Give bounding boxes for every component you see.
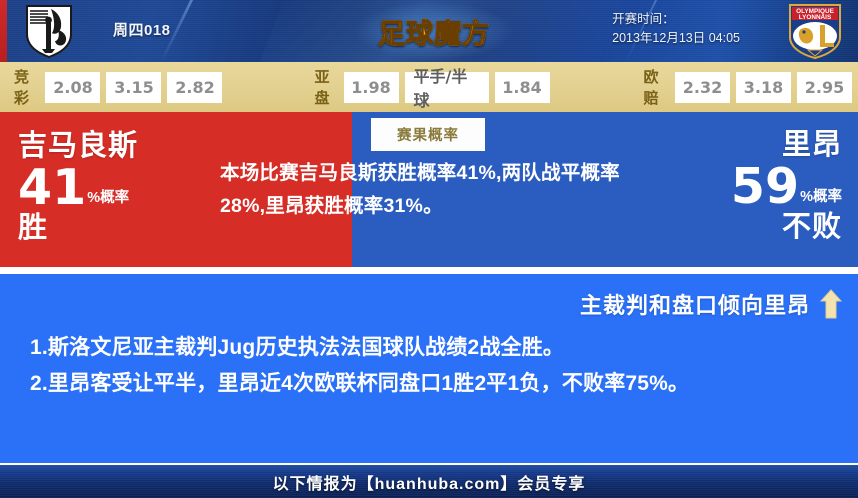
odds-label-european: 欧赔 [644,66,667,108]
odds-cell-european-draw[interactable]: 3.18 [736,72,791,103]
odds-cell-jingcai-home[interactable]: 2.08 [45,72,100,103]
brand-logo: 足球魔方 [358,4,510,58]
insight-line-1: 1.斯洛文尼亚主裁判Jug历史执法法国球队战绩2战全胜。 [30,330,832,366]
odds-cell-asian-away[interactable]: 1.84 [495,72,550,103]
away-probability-value: 59 [731,162,799,211]
olympique-lyonnais-crest: OLYMPIQUE LYONNAIS [786,3,844,59]
footer-bar: 以下情报为【huanhuba.com】会员专享 [0,463,858,498]
odds-group-asian: 亚盘 1.98 平手/半球 1.84 [314,66,555,108]
probability-band: 赛果概率 吉马良斯 41 %概率 胜 里昂 59 %概率 不败 本场比赛吉马良斯… [0,112,858,267]
odds-group-jingcai: 竞彩 2.08 3.15 2.82 [14,66,228,108]
kickoff-label: 开赛时间： [612,10,740,29]
odds-label-jingcai: 竞彩 [14,66,37,108]
kickoff-value: 2013年12月13日 04:05 [612,29,740,48]
match-round-label: 周四018 [113,19,171,40]
home-team-probability: 吉马良斯 41 %概率 胜 [18,130,138,244]
home-outcome-label: 胜 [18,212,138,244]
odds-label-asian: 亚盘 [314,66,335,108]
probability-summary-text: 本场比赛吉马良斯获胜概率41%,两队战平概率28%,里昂获胜概率31%。 [220,157,620,223]
insight-list: 1.斯洛文尼亚主裁判Jug历史执法法国球队战绩2战全胜。 2.里昂客受让平半，里… [30,330,832,402]
odds-group-european: 欧赔 2.32 3.18 2.95 [644,66,858,108]
away-probability-suffix: %概率 [800,190,842,212]
insight-line-2: 2.里昂客受让平半，里昂近4次欧联杯同盘口1胜2平1负，不败率75%。 [30,366,832,402]
header-bar: 周四018 足球魔方 开赛时间： 2013年12月13日 04:05 OLYMP… [0,0,858,62]
vitoria-guimaraes-crest [24,4,74,58]
insight-headline: 主裁判和盘口倾向里昂 [580,288,810,320]
footer-text: 以下情报为【huanhuba.com】会员专享 [273,470,586,494]
insight-headline-row: 主裁判和盘口倾向里昂 [580,288,842,320]
kickoff-block: 开赛时间： 2013年12月13日 04:05 [612,10,740,48]
odds-cell-european-away[interactable]: 2.95 [797,72,852,103]
home-probability-suffix: %概率 [87,191,129,213]
home-probability-value: 41 [18,163,86,212]
away-team-probability: 里昂 59 %概率 不败 [731,129,842,243]
odds-cell-asian-handicap[interactable]: 平手/半球 [405,72,489,103]
brand-title: 足球魔方 [378,12,490,51]
odds-cell-jingcai-draw[interactable]: 3.15 [106,72,161,103]
odds-cell-european-home[interactable]: 2.32 [675,72,730,103]
away-probability-value-row: 59 %概率 [731,162,842,211]
arrow-up-icon [820,289,842,319]
match-preview-card: 周四018 足球魔方 开赛时间： 2013年12月13日 04:05 OLYMP… [0,0,858,498]
tab-result-probability[interactable]: 赛果概率 [371,118,485,151]
odds-cell-jingcai-away[interactable]: 2.82 [167,72,222,103]
odds-bar: 竞彩 2.08 3.15 2.82 亚盘 1.98 平手/半球 1.84 欧赔 … [0,62,858,112]
left-red-stripe [0,0,7,62]
away-outcome-label: 不败 [731,211,842,243]
section-divider [0,267,858,274]
insight-section: 主裁判和盘口倾向里昂 1.斯洛文尼亚主裁判Jug历史执法法国球队战绩2战全胜。 … [0,274,858,463]
svg-text:LYONNAIS: LYONNAIS [799,14,832,21]
odds-cell-asian-home[interactable]: 1.98 [344,72,399,103]
home-probability-value-row: 41 %概率 [18,163,138,212]
